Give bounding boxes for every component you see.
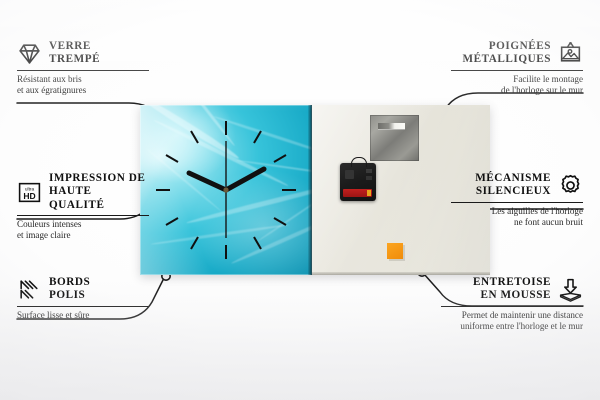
diamond-icon bbox=[17, 41, 42, 66]
feature-title: IMPRESSION DE HAUTE QUALITÉ bbox=[49, 172, 149, 212]
svg-text:HD: HD bbox=[23, 190, 35, 200]
feature-rule bbox=[451, 70, 583, 71]
feature-entretoise-en-mousse: ENTRETOISE EN MOUSSE Permet de maintenir… bbox=[441, 276, 583, 332]
feature-rule bbox=[451, 202, 583, 203]
feature-verre-trempe: VERRE TREMPÉ Résistant aux bris et aux é… bbox=[17, 40, 149, 96]
feature-rule bbox=[17, 215, 149, 216]
tick-10 bbox=[166, 155, 178, 162]
metal-hanging-bracket bbox=[370, 115, 419, 161]
bracket-slot bbox=[378, 123, 405, 129]
tick-8 bbox=[166, 218, 178, 225]
feature-bords-polis: BORDS POLIS Surface lisse et sûre bbox=[17, 276, 149, 321]
mechanism-detail-c bbox=[366, 176, 372, 180]
clock-center-cap bbox=[223, 187, 228, 192]
polished-edges-icon bbox=[17, 277, 42, 302]
mechanism-detail-a bbox=[345, 170, 354, 179]
arrow-onto-pad-icon bbox=[558, 277, 583, 302]
feature-subtitle: Permet de maintenir une distance uniform… bbox=[441, 310, 583, 332]
mechanism-detail-b bbox=[366, 169, 372, 173]
feature-mecanisme-silencieux: MÉCANISME SILENCIEUX Les aiguilles de l'… bbox=[451, 172, 583, 228]
feature-rule bbox=[17, 306, 149, 307]
gear-icon bbox=[558, 173, 583, 198]
clock-hand-minute bbox=[226, 169, 264, 190]
feature-subtitle: Surface lisse et sûre bbox=[17, 310, 149, 321]
hanging-frame-icon bbox=[558, 41, 583, 66]
feature-title: MÉCANISME SILENCIEUX bbox=[475, 172, 551, 199]
tick-5 bbox=[254, 237, 261, 249]
feature-title: VERRE TREMPÉ bbox=[49, 40, 100, 67]
clock-hand-hour bbox=[189, 173, 226, 190]
tick-1 bbox=[254, 131, 261, 143]
tick-11 bbox=[191, 131, 198, 143]
tick-7 bbox=[191, 237, 198, 249]
clock-dial bbox=[140, 105, 312, 275]
infographic-canvas: VERRE TREMPÉ Résistant aux bris et aux é… bbox=[0, 0, 600, 400]
feature-subtitle: Facilite le montage de l'horloge sur le … bbox=[451, 74, 583, 96]
feature-title: POIGNÉES MÉTALLIQUES bbox=[462, 40, 551, 67]
feature-poignees-metalliques: POIGNÉES MÉTALLIQUES Facilite le montage… bbox=[451, 40, 583, 96]
tick-4 bbox=[274, 218, 286, 225]
clock-front-face bbox=[140, 105, 312, 275]
feature-subtitle: Résistant aux bris et aux égratignures bbox=[17, 74, 149, 96]
feature-rule bbox=[441, 306, 583, 307]
feature-subtitle: Les aiguilles de l'horloge ne font aucun… bbox=[451, 206, 583, 228]
tick-2 bbox=[274, 155, 286, 162]
panel-bottom-shadow bbox=[312, 272, 490, 275]
mechanism-hook bbox=[351, 157, 367, 167]
feature-impression-haute-qualite: ultra HD IMPRESSION DE HAUTE QUALITÉ Cou… bbox=[17, 172, 149, 242]
feature-subtitle: Couleurs intenses et image claire bbox=[17, 219, 149, 241]
feature-title: BORDS POLIS bbox=[49, 276, 90, 303]
foam-spacer bbox=[387, 243, 403, 259]
product-image bbox=[140, 105, 490, 275]
feature-title: ENTRETOISE EN MOUSSE bbox=[473, 276, 551, 303]
ultra-hd-icon: ultra HD bbox=[17, 180, 42, 205]
battery bbox=[343, 189, 372, 197]
feature-rule bbox=[17, 70, 149, 71]
clock-mechanism bbox=[340, 163, 376, 201]
